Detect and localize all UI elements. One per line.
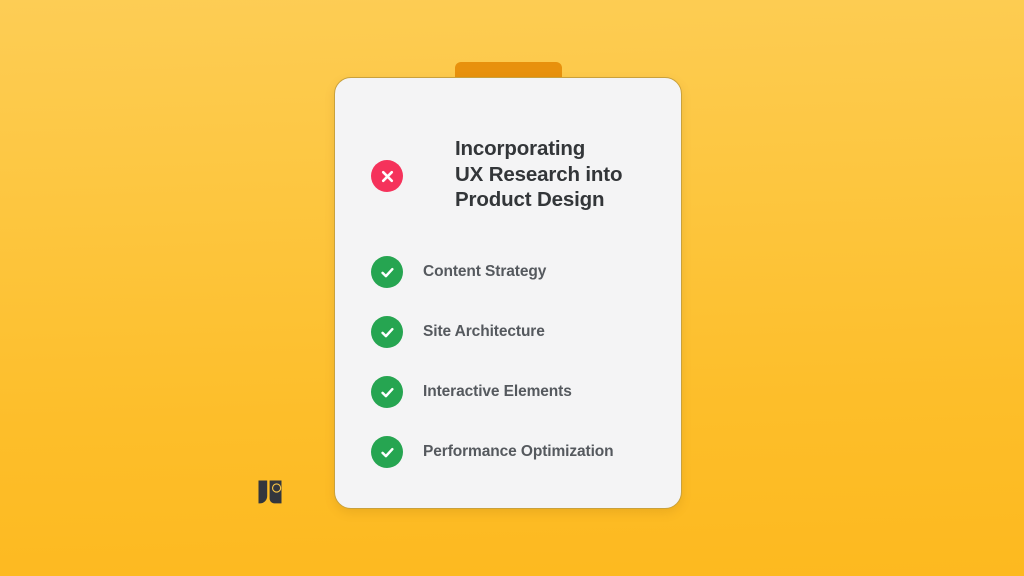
brand-logo-icon [256, 478, 284, 506]
list-item-label: Performance Optimization [423, 444, 614, 460]
check-circle-icon [371, 436, 403, 468]
list-item-label: Site Architecture [423, 324, 545, 340]
check-circle-icon [371, 376, 403, 408]
list-item-label: Interactive Elements [423, 384, 572, 400]
check-circle-icon [371, 316, 403, 348]
list-item[interactable]: Performance Optimization [371, 436, 671, 468]
list-item[interactable]: Site Architecture [371, 316, 671, 348]
list-item-label: Content Strategy [423, 264, 546, 280]
card-header: Incorporating UX Research into Product D… [371, 136, 622, 213]
check-circle-icon [371, 256, 403, 288]
x-circle-icon [371, 160, 403, 192]
page-title: Incorporating UX Research into Product D… [455, 136, 622, 213]
checklist: Content Strategy Site Architecture Inter… [371, 256, 671, 468]
list-item[interactable]: Content Strategy [371, 256, 671, 288]
list-item[interactable]: Interactive Elements [371, 376, 671, 408]
checklist-card: Incorporating UX Research into Product D… [334, 77, 682, 509]
